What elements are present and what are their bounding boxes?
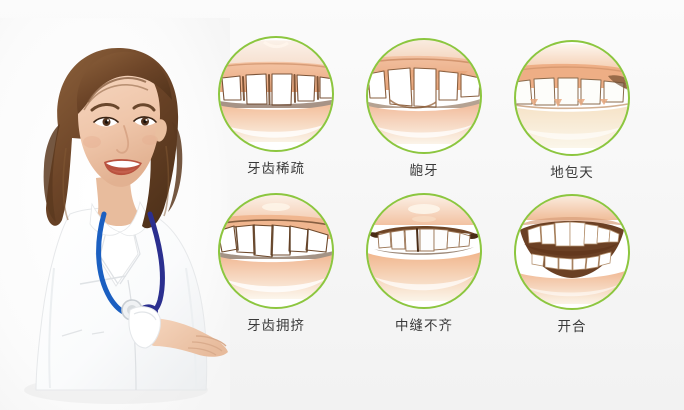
case-label: 地包天 [510, 165, 634, 181]
malocclusion-case-grid: 牙齿稀疏 [210, 36, 640, 356]
teeth-illustration-underbite [516, 42, 628, 154]
case-image-crowded-teeth [218, 193, 334, 309]
case-midline-deviation[interactable]: 中缝不齐 [362, 193, 486, 334]
case-image-midline-deviation [366, 193, 482, 309]
case-label: 中缝不齐 [362, 318, 486, 334]
dental-malocclusion-infographic: 牙齿稀疏 [0, 0, 684, 410]
teeth-illustration-midline-deviation [368, 195, 480, 307]
teeth-illustration-open-bite [516, 196, 628, 308]
case-label: 龅牙 [362, 163, 486, 179]
doctor-photo [0, 18, 230, 410]
case-open-bite[interactable]: 开合 [510, 194, 634, 335]
teeth-illustration-buck-teeth [368, 40, 480, 152]
case-image-underbite [514, 40, 630, 156]
case-image-sparse-teeth [218, 36, 334, 152]
case-image-open-bite [514, 194, 630, 310]
case-label: 牙齿稀疏 [214, 161, 338, 177]
case-image-buck-teeth [366, 38, 482, 154]
case-label: 牙齿拥挤 [214, 318, 338, 334]
teeth-illustration-sparse-teeth [220, 38, 332, 150]
case-crowded-teeth[interactable]: 牙齿拥挤 [214, 193, 338, 334]
teeth-illustration-crowded-teeth [220, 195, 332, 307]
case-buck-teeth[interactable]: 龅牙 [362, 38, 486, 179]
case-sparse-teeth[interactable]: 牙齿稀疏 [214, 36, 338, 177]
case-underbite[interactable]: 地包天 [510, 40, 634, 181]
case-label: 开合 [510, 319, 634, 335]
